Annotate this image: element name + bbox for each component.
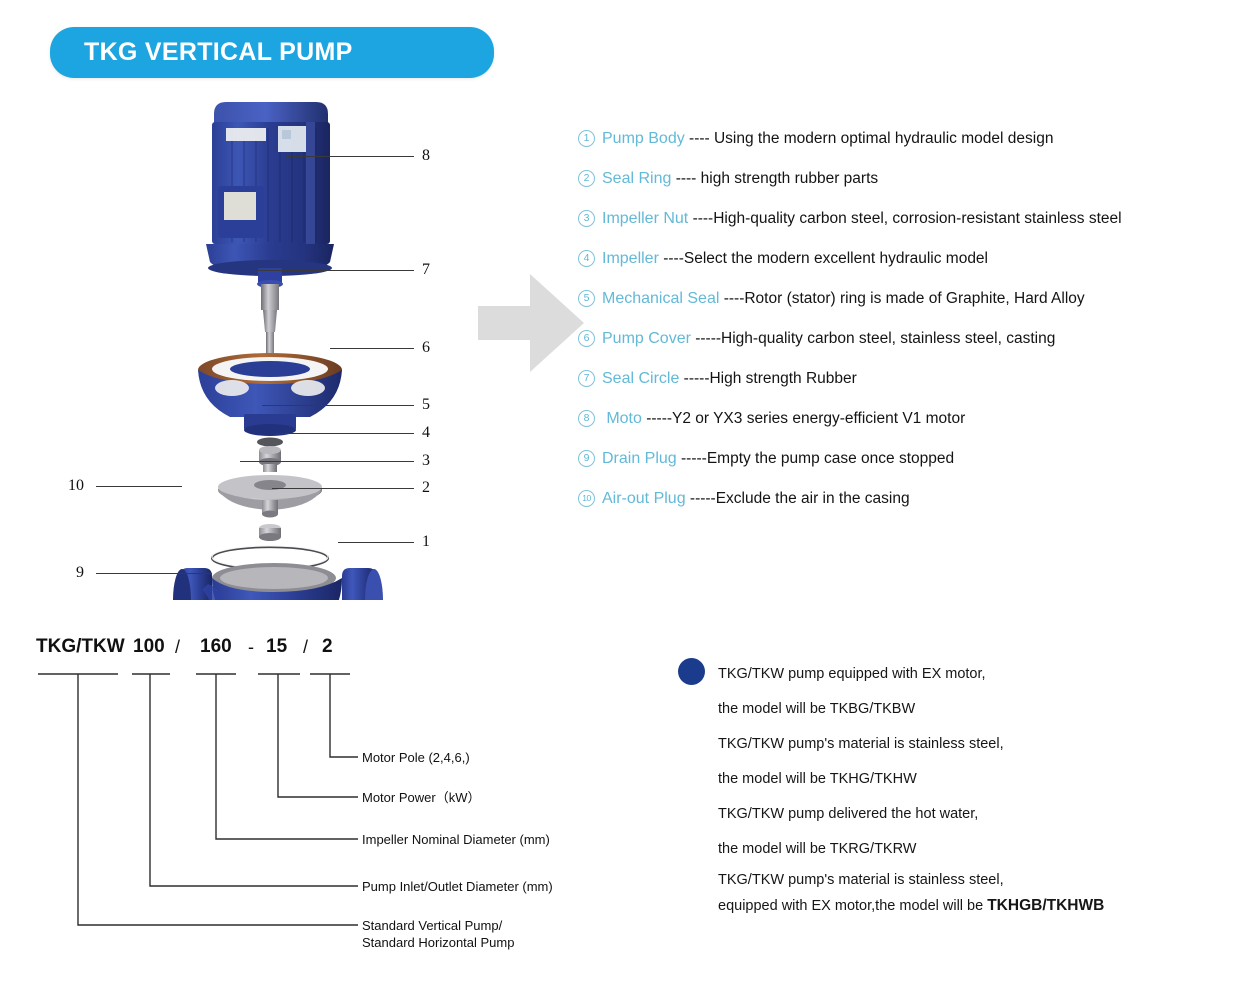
page-title: TKG VERTICAL PUMP <box>84 27 353 78</box>
nomenclature-label-motor-pole: Motor Pole (2,4,6,) <box>362 749 470 766</box>
legend-part-desc: -----Exclude the air in the casing <box>690 490 910 507</box>
legend-part-desc: ----High-quality carbon steel, corrosion… <box>693 210 1122 227</box>
legend-item-drain-plug: 9Drain Plug -----Empty the pump case onc… <box>578 448 1228 488</box>
callout-5: 5 <box>262 396 452 414</box>
callout-3: 3 <box>240 452 452 470</box>
variant-note-line: the model will be TKHG/TKHW <box>718 762 1198 797</box>
right-arrow-icon <box>478 272 586 374</box>
legend-part-name: Mechanical Seal <box>602 290 719 307</box>
model-token-power: 15 <box>266 634 287 660</box>
legend-part-name: Seal Ring <box>602 170 671 187</box>
callout-9: 9 <box>76 564 210 582</box>
variant-notes-bullet-icon <box>678 658 705 685</box>
nomenclature-label-inlet-outlet: Pump Inlet/Outlet Diameter (mm) <box>362 878 553 895</box>
legend-number-icon: 2 <box>578 170 595 187</box>
legend-part-name: Moto <box>606 410 642 427</box>
legend-item-impeller: 4Impeller ----Select the modern excellen… <box>578 248 1228 288</box>
variant-note-line: TKG/TKW pump's material is stainless ste… <box>718 867 1198 893</box>
legend-item-impeller-nut: 3Impeller Nut ----High-quality carbon st… <box>578 208 1228 248</box>
legend-part-desc: -----Y2 or YX3 series energy-efficient V… <box>646 410 965 427</box>
legend-number-icon: 4 <box>578 250 595 267</box>
callout-2: 2 <box>272 479 452 497</box>
seal-circle-shaft-part <box>257 268 283 358</box>
callout-6: 6 <box>330 339 450 357</box>
legend-item-air-out-plug: 10Air-out Plug -----Exclude the air in t… <box>578 488 1228 528</box>
model-token-series: TKG/TKW <box>36 634 125 660</box>
legend-item-seal-ring: 2Seal Ring ---- high strength rubber par… <box>578 168 1228 208</box>
legend-number-icon: 10 <box>578 490 595 507</box>
legend-part-desc: ---- Using the modern optimal hydraulic … <box>689 130 1053 147</box>
variant-note-line: the model will be TKBG/TKBW <box>718 692 1198 727</box>
legend-number-icon: 7 <box>578 370 595 387</box>
page-title-banner: TKG VERTICAL PUMP <box>50 27 494 78</box>
model-token-pole: 2 <box>322 634 333 660</box>
legend-part-desc: ----Rotor (stator) ring is made of Graph… <box>724 290 1085 307</box>
legend-number-icon: 9 <box>578 450 595 467</box>
variant-note-line-emphasis: equipped with EX motor,the model will be… <box>718 893 1198 919</box>
legend-part-name: Seal Circle <box>602 370 679 387</box>
legend-item-pump-cover: 6Pump Cover -----High-quality carbon ste… <box>578 328 1228 368</box>
legend-part-desc: -----High-quality carbon steel, stainles… <box>695 330 1055 347</box>
nomenclature-label-impeller-dia: Impeller Nominal Diameter (mm) <box>362 831 550 848</box>
nomenclature-label-motor-power: Motor Power（kW） <box>362 789 480 806</box>
variant-note-line: TKG/TKW pump delivered the hot water, <box>718 797 1198 832</box>
model-token-impeller: 160 <box>200 634 232 660</box>
legend-number-icon: 3 <box>578 210 595 227</box>
motor-part <box>206 102 334 276</box>
nomenclature-label-standard-horizontal: Standard Horizontal Pump <box>362 934 514 951</box>
model-separator-3: / <box>303 634 308 660</box>
legend-part-name: Impeller Nut <box>602 210 688 227</box>
model-code-string: TKG/TKW 100 / 160 - 15 / 2 <box>30 634 370 674</box>
variant-note-line: TKG/TKW pump equipped with EX motor, <box>718 657 1198 692</box>
callout-1: 1 <box>338 533 452 551</box>
legend-number-icon: 5 <box>578 290 595 307</box>
legend-part-name: Pump Cover <box>602 330 691 347</box>
callout-8: 8 <box>286 147 446 165</box>
legend-number-icon: 1 <box>578 130 595 147</box>
variant-note-prefix: equipped with EX motor,the model will be <box>718 898 987 914</box>
callout-10: 10 <box>68 477 180 495</box>
variant-note-line: the model will be TKRG/TKRW <box>718 832 1198 867</box>
legend-part-desc: ---- high strength rubber parts <box>676 170 878 187</box>
legend-part-name: Air-out Plug <box>602 490 686 507</box>
callout-7: 7 <box>258 261 448 279</box>
legend-item-seal-circle: 7Seal Circle -----High strength Rubber <box>578 368 1228 408</box>
variant-note-line: TKG/TKW pump's material is stainless ste… <box>718 727 1198 762</box>
model-separator-1: / <box>175 634 180 660</box>
legend-item-mechanical-seal: 5Mechanical Seal ----Rotor (stator) ring… <box>578 288 1228 328</box>
legend-part-desc: -----High strength Rubber <box>684 370 857 387</box>
legend-number-icon: 6 <box>578 330 595 347</box>
legend-part-name: Pump Body <box>602 130 685 147</box>
legend-part-name: Impeller <box>602 250 659 267</box>
legend-item-moto: 8 Moto -----Y2 or YX3 series energy-effi… <box>578 408 1228 448</box>
legend-part-name: Drain Plug <box>602 450 677 467</box>
nomenclature-label-standard-vertical: Standard Vertical Pump/ <box>362 917 502 934</box>
legend-item-pump-body: 1Pump Body ---- Using the modern optimal… <box>578 128 1228 168</box>
model-separator-2: - <box>248 634 254 660</box>
variant-notes-list: TKG/TKW pump equipped with EX motor, the… <box>718 657 1198 919</box>
legend-part-desc: ----Select the modern excellent hydrauli… <box>663 250 988 267</box>
callout-4: 4 <box>276 424 452 442</box>
variant-note-model: TKHGB/TKHWB <box>987 897 1104 914</box>
model-token-inlet: 100 <box>133 634 165 660</box>
impeller-nut-part <box>259 524 281 541</box>
legend-part-desc: -----Empty the pump case once stopped <box>681 450 954 467</box>
parts-legend: 1Pump Body ---- Using the modern optimal… <box>578 128 1228 528</box>
legend-number-icon: 8 <box>578 410 595 427</box>
